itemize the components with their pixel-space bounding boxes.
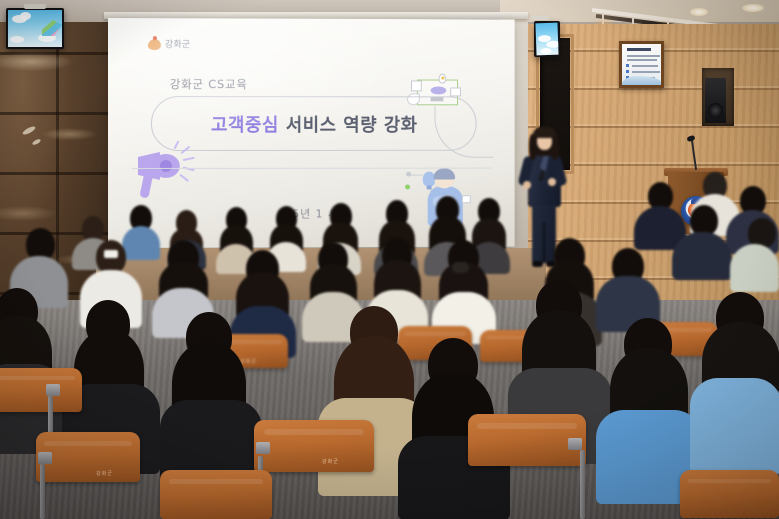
square-icon bbox=[462, 195, 471, 203]
auditorium-photo: 강화군 강화군 CS교육 고객중심 서비스 역량 강화 bbox=[0, 0, 779, 519]
tv-screen-content bbox=[535, 23, 558, 56]
ceiling-downlight bbox=[690, 8, 708, 16]
auditorium-chair bbox=[254, 420, 374, 472]
slide-title-pill: 고객중심 서비스 역량 강화 bbox=[151, 96, 477, 151]
tv-screen-content bbox=[8, 10, 62, 47]
ceiling-downlight bbox=[742, 4, 764, 12]
hair-clip bbox=[104, 250, 118, 258]
notice-paper bbox=[622, 44, 661, 85]
location-pin-icon bbox=[438, 74, 446, 84]
tv-mount bbox=[531, 16, 549, 20]
notice-heading bbox=[627, 48, 651, 51]
wall-speaker bbox=[705, 78, 726, 123]
auditorium-chair bbox=[0, 368, 82, 412]
slide-logo: 강화군 bbox=[148, 36, 191, 50]
rainbow-graphic bbox=[42, 20, 62, 36]
tv-mount bbox=[24, 4, 46, 9]
auditorium-chair bbox=[680, 470, 779, 518]
slide-subtitle: 강화군 CS교육 bbox=[170, 76, 248, 92]
chair-label: 강화군 bbox=[240, 358, 257, 365]
auditorium-chair bbox=[160, 470, 272, 519]
megaphone-icon bbox=[136, 144, 206, 204]
chair-label: 강화군 bbox=[322, 458, 339, 465]
wall-tv-left bbox=[6, 8, 64, 49]
slide-logo-text: 강화군 bbox=[165, 37, 191, 50]
slide-title-highlight: 고객중심 bbox=[211, 115, 279, 136]
slide-title: 고객중심 서비스 역량 강화 bbox=[211, 111, 418, 137]
wall-tv-right bbox=[534, 21, 560, 57]
framed-notice bbox=[619, 41, 664, 88]
slide-title-rest: 서비스 역량 강화 bbox=[279, 115, 418, 136]
chair-label: 강화군 bbox=[96, 470, 113, 477]
ganghwa-gun-mascot-icon bbox=[148, 36, 161, 50]
notice-graphic bbox=[622, 76, 661, 85]
hair-tie bbox=[452, 262, 469, 273]
